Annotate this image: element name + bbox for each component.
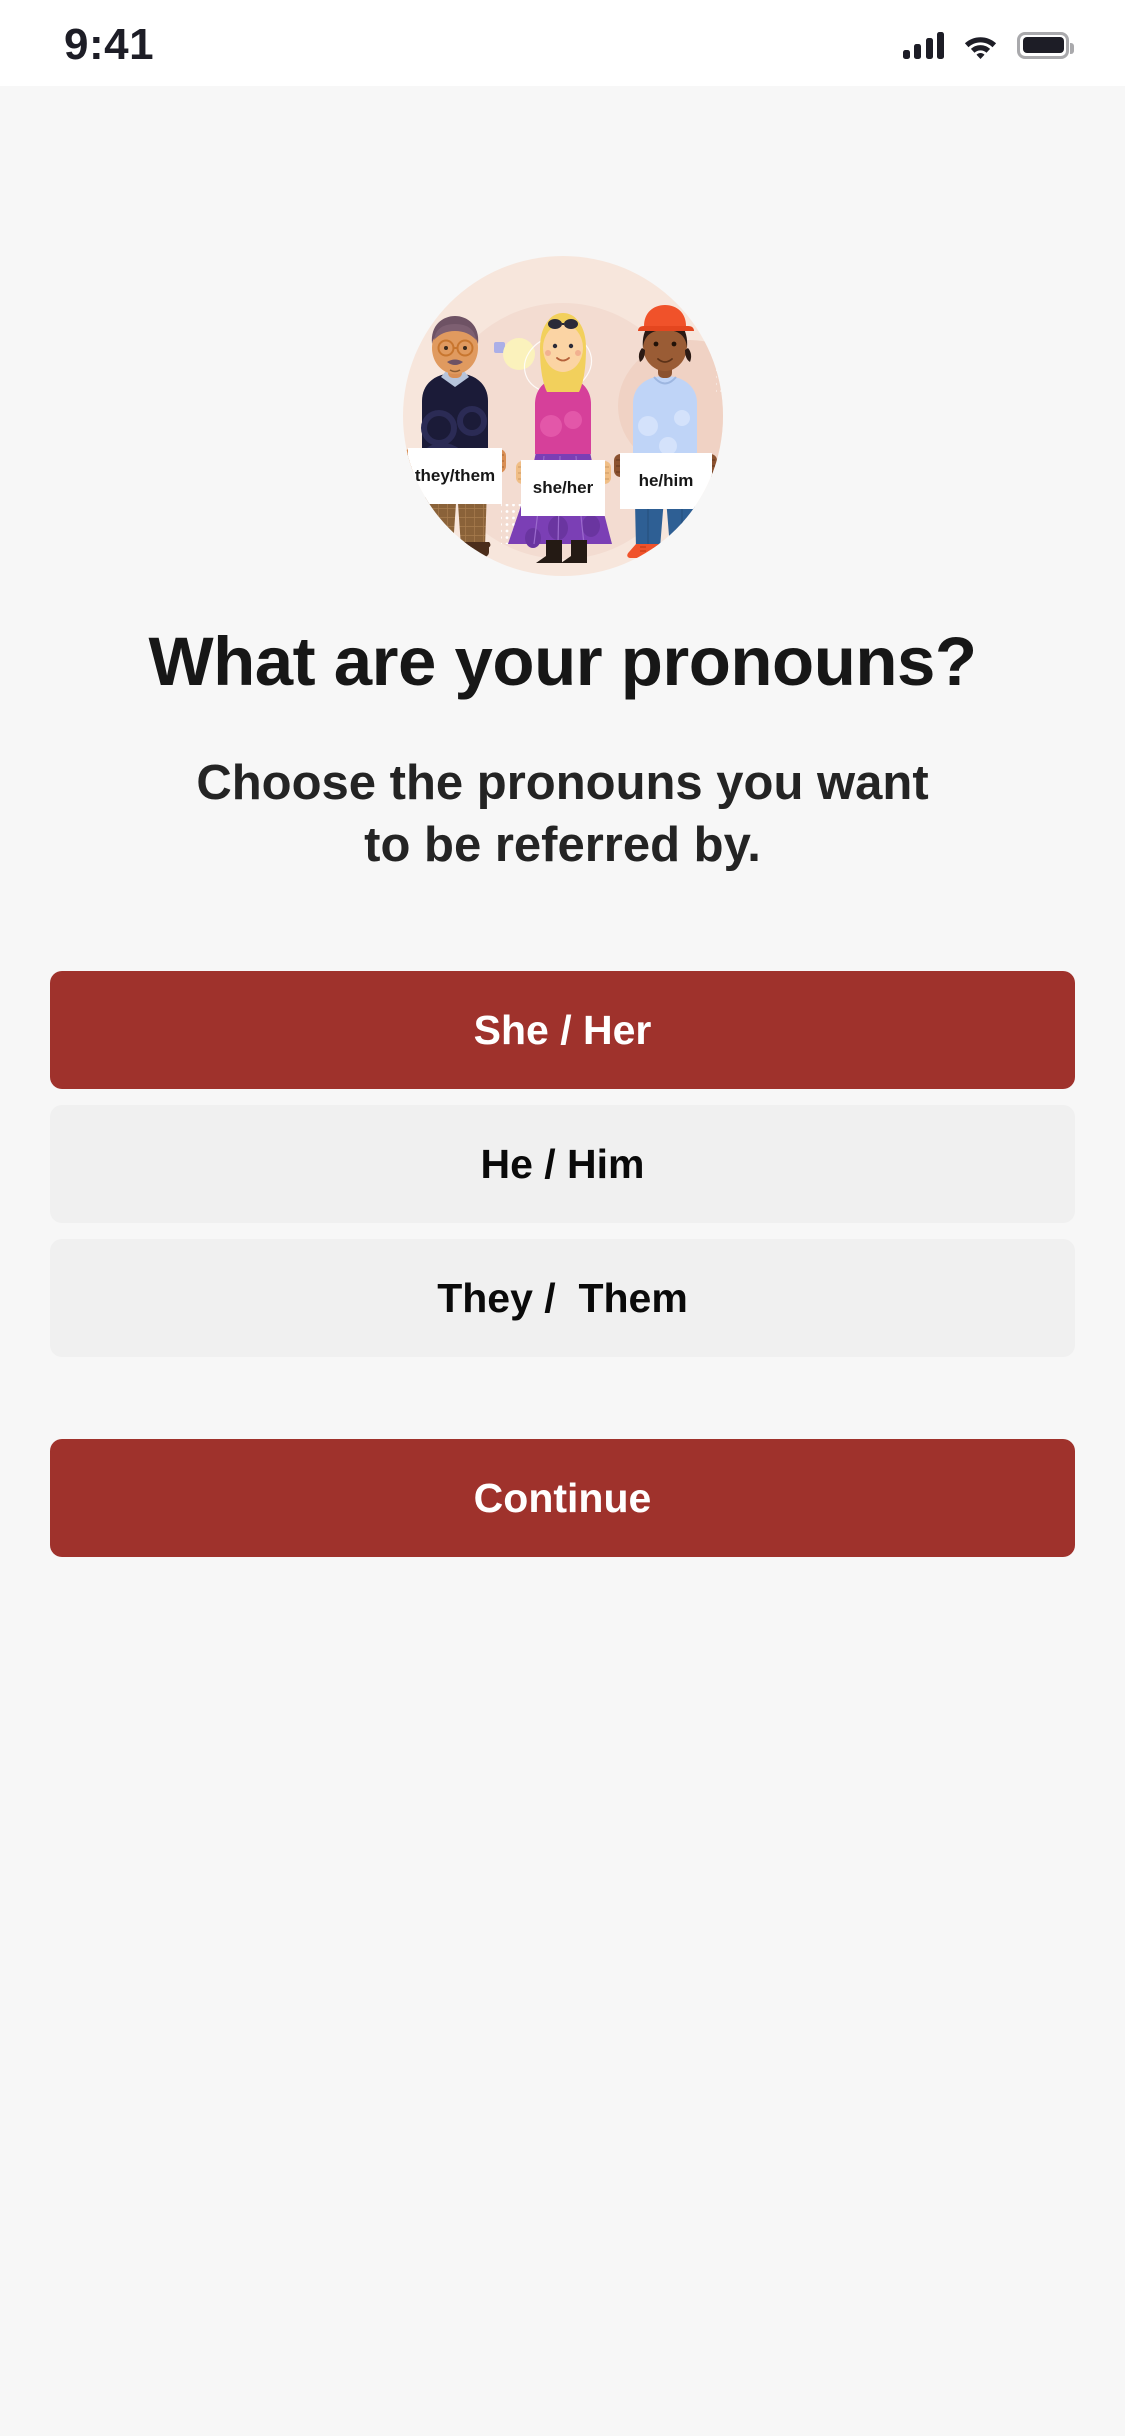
- pronouns-illustration: they/them: [258, 256, 868, 576]
- cellular-signal-icon: [903, 32, 945, 59]
- page-title: What are your pronouns?: [50, 624, 1075, 700]
- status-bar: 9:41: [0, 0, 1125, 86]
- option-he-him[interactable]: He / Him: [50, 1105, 1075, 1223]
- main-content: they/them: [0, 86, 1125, 2436]
- pronoun-options-list: She / Her He / Him They / Them: [50, 971, 1075, 1357]
- status-bar-time: 9:41: [64, 19, 154, 67]
- wifi-icon: [963, 32, 998, 59]
- sign-label-they-them: they/them: [414, 466, 494, 485]
- continue-button-wrapper: Continue: [50, 1439, 1075, 1557]
- phone-screen: 9:41: [0, 0, 1125, 2436]
- status-bar-icons: [903, 28, 1070, 59]
- option-they-them[interactable]: They / Them: [50, 1239, 1075, 1357]
- page-subtitle: Choose the pronouns you want to be refer…: [173, 752, 953, 876]
- battery-full-icon: [1017, 32, 1069, 59]
- continue-button[interactable]: Continue: [50, 1439, 1075, 1557]
- option-she-her[interactable]: She / Her: [50, 971, 1075, 1089]
- sign-label-he-him: he/him: [638, 471, 693, 490]
- sign-label-she-her: she/her: [532, 478, 593, 497]
